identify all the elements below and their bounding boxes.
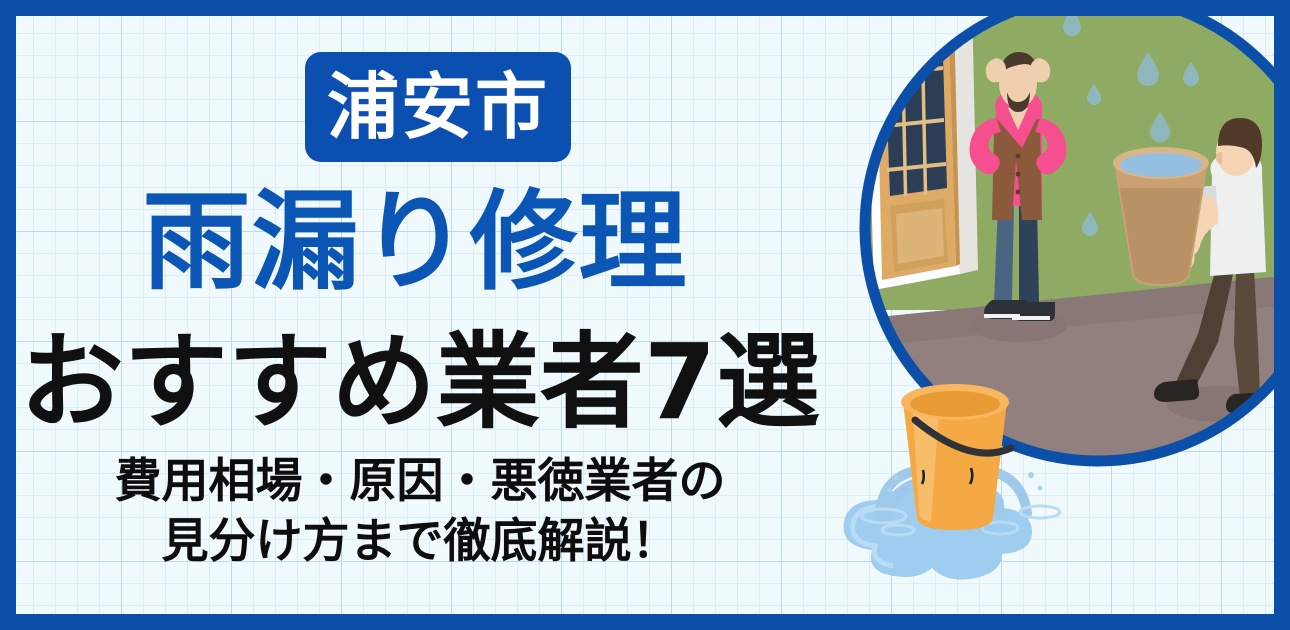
city-badge: 浦安市 — [305, 52, 571, 162]
subtitle-line-1: 費用相場・原因・悪徳業者の — [0, 452, 840, 512]
headline-line-2: おすすめ業者7選 — [0, 328, 840, 437]
subtitle-line-2: 見分け方まで徹底解説！ — [0, 512, 840, 572]
subtitle-block: 費用相場・原因・悪徳業者の 見分け方まで徹底解説！ — [0, 452, 840, 572]
headline-line-1: 雨漏り修理 — [0, 186, 830, 299]
city-badge-label: 浦安市 — [327, 71, 549, 143]
banner-root: 浦安市 雨漏り修理 おすすめ業者7選 費用相場・原因・悪徳業者の 見分け方まで徹… — [0, 0, 1290, 630]
text-column: 浦安市 雨漏り修理 おすすめ業者7選 費用相場・原因・悪徳業者の 見分け方まで徹… — [0, 0, 860, 630]
